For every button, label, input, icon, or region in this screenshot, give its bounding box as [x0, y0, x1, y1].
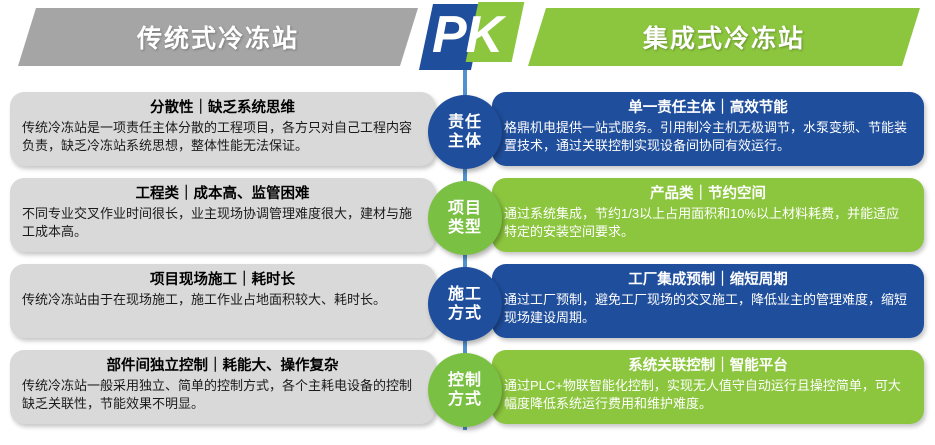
integrated-card[interactable]: 单一责任主体｜高效节能 格鼎机电提供一站式服务。引用制冷主机无极调节，水泵变频、… — [492, 92, 924, 166]
category-badge[interactable]: 控制 方式 — [428, 353, 502, 427]
card-title: 单一责任主体｜高效节能 — [504, 98, 912, 119]
badge-line-1: 项目 — [448, 199, 482, 218]
category-badge[interactable]: 施工 方式 — [428, 267, 502, 341]
card-title: 系统关联控制｜智能平台 — [504, 356, 912, 377]
badge-line-2: 类型 — [448, 218, 482, 237]
card-body: 格鼎机电提供一站式服务。引用制冷主机无极调节，水泵变频、节能装置技术，通过关联控… — [504, 119, 912, 154]
comparison-infographic: 传统式冷冻站 PK 集成式冷冻站 分散性｜缺乏系统思维 传统冷冻站是一项责任主体… — [0, 0, 935, 445]
card-body: 传统冷冻站由于在现场施工，施工作业占地面积较大、耗时长。 — [22, 291, 423, 309]
traditional-card[interactable]: 部件间独立控制｜耗能大、操作复杂 传统冷冻站一般采用独立、简单的控制方式，各个主… — [10, 350, 435, 424]
card-body: 不同专业交叉作业时间很长，业主现场协调管理难度很大，建材与施工成本高。 — [22, 205, 423, 240]
card-body: 传统冷冻站一般采用独立、简单的控制方式，各个主耗电设备的控制缺乏关联性，节能效果… — [22, 377, 423, 412]
integrated-card[interactable]: 工厂集成预制｜缩短周期 通过工厂预制，避免工厂现场的交叉施工，降低业主的管理难度… — [492, 264, 924, 338]
traditional-card[interactable]: 项目现场施工｜耗时长 传统冷冻站由于在现场施工，施工作业占地面积较大、耗时长。 — [10, 264, 435, 338]
header-right-title: 集成式冷冻站 — [643, 19, 805, 55]
traditional-card[interactable]: 分散性｜缺乏系统思维 传统冷冻站是一项责任主体分散的工程项目，各方只对自己工程内… — [10, 92, 435, 166]
badge-line-1: 责任 — [448, 113, 482, 132]
badge-line-2: 方式 — [448, 304, 482, 323]
header-band: 传统式冷冻站 PK 集成式冷冻站 — [0, 0, 935, 80]
card-title: 工厂集成预制｜缩短周期 — [504, 270, 912, 291]
badge-line-1: 施工 — [448, 285, 482, 304]
card-title: 工程类｜成本高、监管困难 — [22, 184, 423, 205]
pk-logo: PK — [418, 0, 538, 76]
card-body: 传统冷冻站是一项责任主体分散的工程项目，各方只对自己工程内容负责，缺乏冷冻站系统… — [22, 119, 423, 154]
comparison-row: 项目现场施工｜耗时长 传统冷冻站由于在现场施工，施工作业占地面积较大、耗时长。 … — [0, 264, 935, 342]
traditional-card[interactable]: 工程类｜成本高、监管困难 不同专业交叉作业时间很长，业主现场协调管理难度很大，建… — [10, 178, 435, 252]
category-badge[interactable]: 项目 类型 — [428, 181, 502, 255]
header-right-banner: 集成式冷冻站 — [528, 8, 920, 66]
card-body: 通过PLC+物联智能化控制，实现无人值守自动运行且操控简单，可大幅度降低系统运行… — [504, 377, 912, 412]
header-left-title: 传统式冷冻站 — [137, 19, 299, 55]
card-title: 项目现场施工｜耗时长 — [22, 270, 423, 291]
card-body: 通过系统集成，节约1/3以上占用面积和10%以上材料耗费，并能适应特定的安装空间… — [504, 205, 912, 240]
integrated-card[interactable]: 产品类｜节约空间 通过系统集成，节约1/3以上占用面积和10%以上材料耗费，并能… — [492, 178, 924, 252]
comparison-row: 分散性｜缺乏系统思维 传统冷冻站是一项责任主体分散的工程项目，各方只对自己工程内… — [0, 92, 935, 170]
comparison-row: 工程类｜成本高、监管困难 不同专业交叉作业时间很长，业主现场协调管理难度很大，建… — [0, 178, 935, 256]
category-badge[interactable]: 责任 主体 — [428, 95, 502, 169]
card-title: 部件间独立控制｜耗能大、操作复杂 — [22, 356, 423, 377]
comparison-row: 部件间独立控制｜耗能大、操作复杂 传统冷冻站一般采用独立、简单的控制方式，各个主… — [0, 350, 935, 428]
badge-line-2: 方式 — [448, 390, 482, 409]
badge-line-2: 主体 — [448, 132, 482, 151]
card-body: 通过工厂预制，避免工厂现场的交叉施工，降低业主的管理难度，缩短现场建设周期。 — [504, 291, 912, 326]
integrated-card[interactable]: 系统关联控制｜智能平台 通过PLC+物联智能化控制，实现无人值守自动运行且操控简… — [492, 350, 924, 424]
card-title: 分散性｜缺乏系统思维 — [22, 98, 423, 119]
pk-logo-text: PK — [418, 0, 538, 76]
badge-line-1: 控制 — [448, 371, 482, 390]
card-title: 产品类｜节约空间 — [504, 184, 912, 205]
header-left-banner: 传统式冷冻站 — [18, 8, 418, 66]
